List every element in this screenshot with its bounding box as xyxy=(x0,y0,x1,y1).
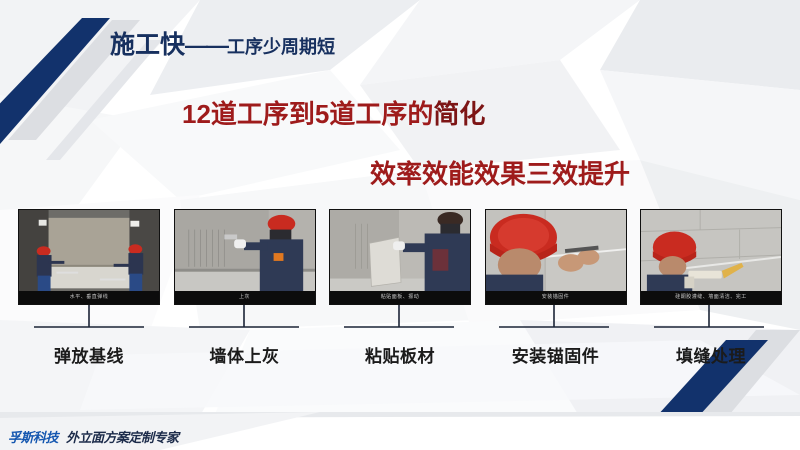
slide-canvas: 施工快——工序少周期短 12道工序到5道工序的简化 效率效能效果三效提升 xyxy=(0,0,800,450)
step-label-1: 弹放基线 xyxy=(18,342,160,367)
title-subtitle: 工序少周期短 xyxy=(227,37,335,57)
photo-caption-4: 安装锚固件 xyxy=(486,291,626,304)
photo-scene-applying-mortar xyxy=(175,210,315,304)
company-tagline: 外立面方案定制专家 xyxy=(66,427,179,446)
process-photo-1: 水平、垂直弹线 xyxy=(18,209,160,305)
title-main-text: 施工快 xyxy=(110,31,185,59)
headline-primary-prefix: 12道工序到5道工序的 xyxy=(182,99,433,129)
page-title: 施工快——工序少周期短 xyxy=(110,33,335,58)
step-label-2: 墙体上灰 xyxy=(174,342,316,367)
step-connectors xyxy=(0,305,800,345)
step-label-3: 粘贴板材 xyxy=(329,342,471,367)
company-logo-text: 孚斯科技 xyxy=(8,427,58,446)
photo-caption-2: 上灰 xyxy=(175,291,315,304)
process-photo-2: 上灰 xyxy=(174,209,316,305)
photo-scene-caulking-joint xyxy=(641,210,781,304)
photo-caption-3: 粘贴面板、振动 xyxy=(330,291,470,304)
process-photo-3: 粘贴面板、振动 xyxy=(329,209,471,305)
headline-secondary: 效率效能效果三效提升 xyxy=(370,161,630,187)
headline-primary-accent: 简化 xyxy=(433,99,485,129)
process-photo-strip: 水平、垂直弹线 xyxy=(18,209,782,305)
process-photo-4: 安装锚固件 xyxy=(485,209,627,305)
step-label-4: 安装锚固件 xyxy=(485,342,627,367)
step-labels: 弹放基线 墙体上灰 粘贴板材 安装锚固件 填缝处理 xyxy=(18,342,782,367)
step-label-5: 填缝处理 xyxy=(640,342,782,367)
photo-scene-placing-panel xyxy=(330,210,470,304)
process-photo-5: 硅酮胶灌缝、墙面清洁、完工 xyxy=(640,209,782,305)
photo-caption-5: 硅酮胶灌缝、墙面清洁、完工 xyxy=(641,291,781,304)
headline-primary: 12道工序到5道工序的简化 xyxy=(182,101,485,127)
photo-caption-1: 水平、垂直弹线 xyxy=(19,291,159,304)
photo-scene-marking-baseline xyxy=(19,210,159,304)
title-dash: —— xyxy=(185,32,227,58)
photo-scene-installing-anchor xyxy=(486,210,626,304)
